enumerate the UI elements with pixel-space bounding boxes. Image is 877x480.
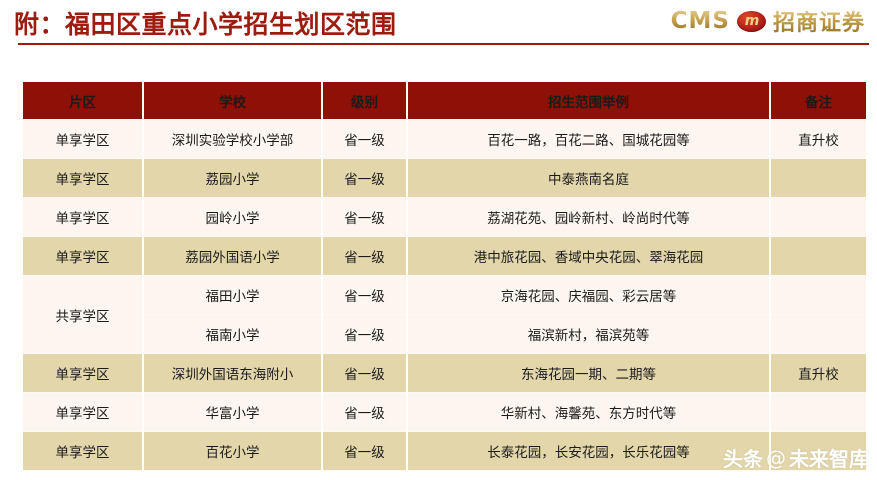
- cell-zone: 单享学区: [23, 198, 143, 237]
- cell-level: 省一级: [322, 120, 407, 159]
- cell-zone: 单享学区: [23, 393, 143, 432]
- cell-school: 深圳实验学校小学部: [143, 120, 322, 159]
- cell-note: [770, 159, 866, 198]
- cell-zone: 单享学区: [23, 354, 143, 393]
- cell-level: 省一级: [322, 432, 407, 471]
- table-row: 单享学区荔园小学省一级中泰燕南名庭: [23, 159, 866, 198]
- cell-note: [770, 237, 866, 276]
- cell-school: 园岭小学: [143, 198, 322, 237]
- cell-scope: 华新村、海馨苑、东方时代等: [407, 393, 770, 432]
- cms-emblem-icon: m: [737, 11, 766, 32]
- table-row: 单享学区荔园外国语小学省一级港中旅花园、香域中央花园、翠海花园: [23, 237, 866, 276]
- cell-level: 省一级: [322, 315, 407, 354]
- column-header-note: 备注: [770, 82, 866, 120]
- table-row: 单享学区华富小学省一级华新村、海馨苑、东方时代等: [23, 393, 866, 432]
- cell-level: 省一级: [322, 237, 407, 276]
- cell-level: 省一级: [322, 159, 407, 198]
- table-row: 单享学区百花小学省一级长泰花园，长安花园，长乐花园等: [23, 432, 866, 471]
- table-row: 福南小学省一级福滨新村，福滨苑等: [23, 315, 866, 354]
- column-header-scope: 招生范围举例: [407, 82, 770, 120]
- cell-scope: 福滨新村，福滨苑等: [407, 315, 770, 354]
- cell-note: [770, 393, 866, 432]
- column-header-school: 学校: [143, 82, 322, 120]
- table-header-row: 片区 学校 级别 招生范围举例 备注: [23, 82, 866, 120]
- cell-scope: 京海花园、庆福园、彩云居等: [407, 276, 770, 315]
- cell-note: 直升校: [770, 354, 866, 393]
- cell-school: 福南小学: [143, 315, 322, 354]
- cell-scope: 中泰燕南名庭: [407, 159, 770, 198]
- cell-zone: 单享学区: [23, 237, 143, 276]
- cell-school: 福田小学: [143, 276, 322, 315]
- school-zone-table-container: 片区 学校 级别 招生范围举例 备注 单享学区深圳实验学校小学部省一级百花一路，…: [23, 82, 866, 471]
- cell-note: 直升校: [770, 120, 866, 159]
- cell-level: 省一级: [322, 198, 407, 237]
- brand-chinese-text: 招商证券: [773, 5, 865, 37]
- title-divider: [18, 43, 869, 45]
- cms-logo: CMS m 招商证券: [671, 6, 865, 36]
- table-row: 单享学区园岭小学省一级荔湖花苑、园岭新村、岭尚时代等: [23, 198, 866, 237]
- brand-latin-text: CMS: [671, 8, 730, 34]
- table-body: 单享学区深圳实验学校小学部省一级百花一路，百花二路、国城花园等直升校单享学区荔园…: [23, 120, 866, 471]
- cell-scope: 百花一路，百花二路、国城花园等: [407, 120, 770, 159]
- cell-level: 省一级: [322, 276, 407, 315]
- page-title: 附：福田区重点小学招生划区范围: [14, 5, 397, 41]
- school-zone-table: 片区 学校 级别 招生范围举例 备注 单享学区深圳实验学校小学部省一级百花一路，…: [23, 82, 866, 471]
- cell-school: 荔园小学: [143, 159, 322, 198]
- cell-scope: 港中旅花园、香域中央花园、翠海花园: [407, 237, 770, 276]
- cell-school: 百花小学: [143, 432, 322, 471]
- cell-zone: 单享学区: [23, 432, 143, 471]
- cell-note: [770, 276, 866, 315]
- cell-scope: 长泰花园，长安花园，长乐花园等: [407, 432, 770, 471]
- table-row: 单享学区深圳实验学校小学部省一级百花一路，百花二路、国城花园等直升校: [23, 120, 866, 159]
- table-row: 单享学区深圳外国语东海附小省一级东海花园一期、二期等直升校: [23, 354, 866, 393]
- cell-note: [770, 315, 866, 354]
- table-header: 片区 学校 级别 招生范围举例 备注: [23, 82, 866, 120]
- cell-school: 荔园外国语小学: [143, 237, 322, 276]
- cell-scope: 荔湖花苑、园岭新村、岭尚时代等: [407, 198, 770, 237]
- cms-emblem-glyph: m: [745, 14, 759, 28]
- cell-zone: 单享学区: [23, 120, 143, 159]
- table-row: 共享学区福田小学省一级京海花园、庆福园、彩云居等: [23, 276, 866, 315]
- cell-note: [770, 432, 866, 471]
- cell-level: 省一级: [322, 354, 407, 393]
- cell-zone: 共享学区: [23, 276, 143, 354]
- cell-scope: 东海花园一期、二期等: [407, 354, 770, 393]
- column-header-zone: 片区: [23, 82, 143, 120]
- column-header-level: 级别: [322, 82, 407, 120]
- cell-level: 省一级: [322, 393, 407, 432]
- cell-zone: 单享学区: [23, 159, 143, 198]
- page-header: 附：福田区重点小学招生划区范围 CMS m 招商证券: [0, 0, 877, 46]
- cell-note: [770, 198, 866, 237]
- cell-school: 华富小学: [143, 393, 322, 432]
- cell-school: 深圳外国语东海附小: [143, 354, 322, 393]
